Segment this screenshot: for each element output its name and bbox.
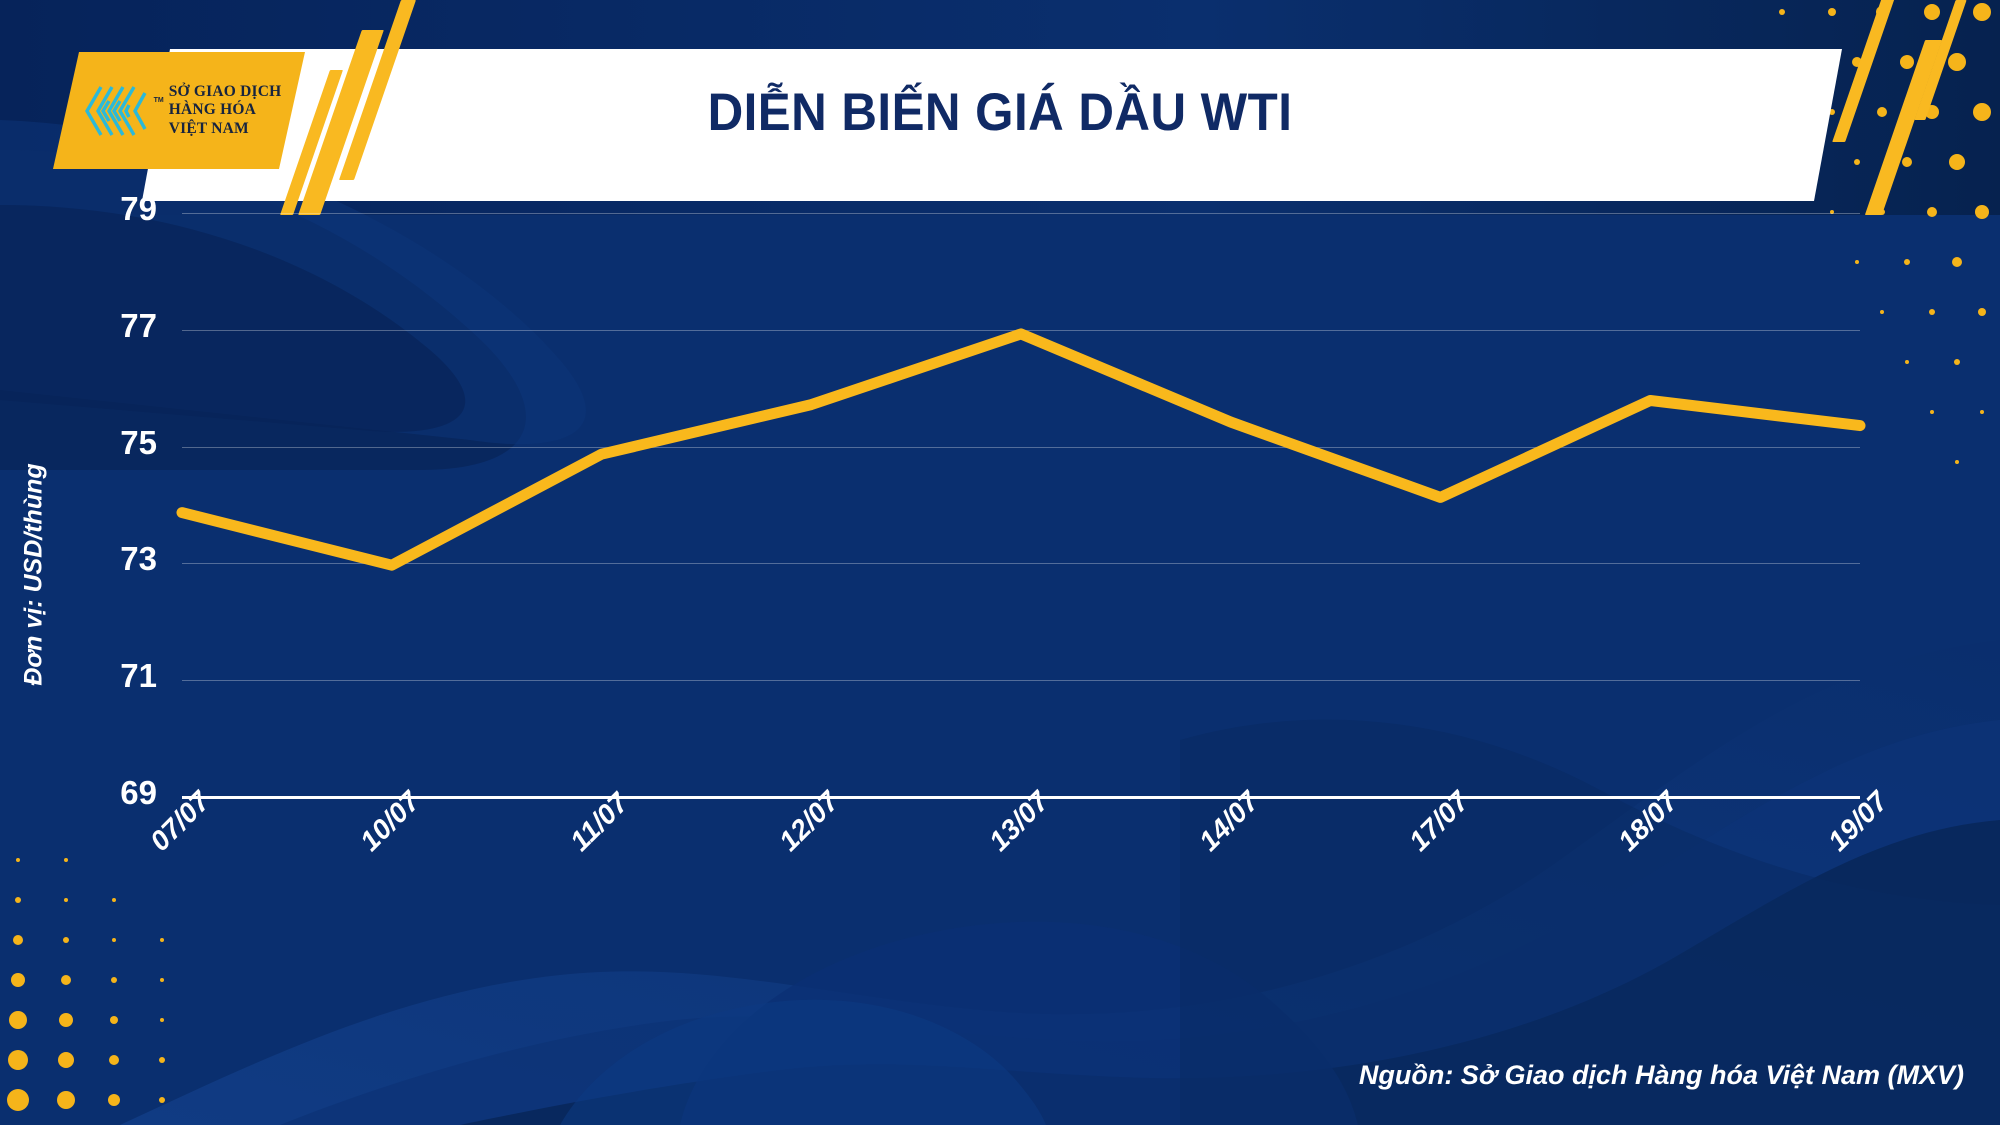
price-series-line bbox=[182, 334, 1860, 565]
wti-price-line-chart bbox=[0, 0, 2000, 1125]
infographic-canvas: TM SỞ GIAO DỊCH HÀNG HÓA VIỆT NAM DIỄN B… bbox=[0, 0, 2000, 1125]
chart-area: Đơn vị: USD/thùng 797775737169 07/0710/0… bbox=[0, 0, 2000, 1125]
source-note: Nguồn: Sở Giao dịch Hàng hóa Việt Nam (M… bbox=[1359, 1060, 1964, 1091]
